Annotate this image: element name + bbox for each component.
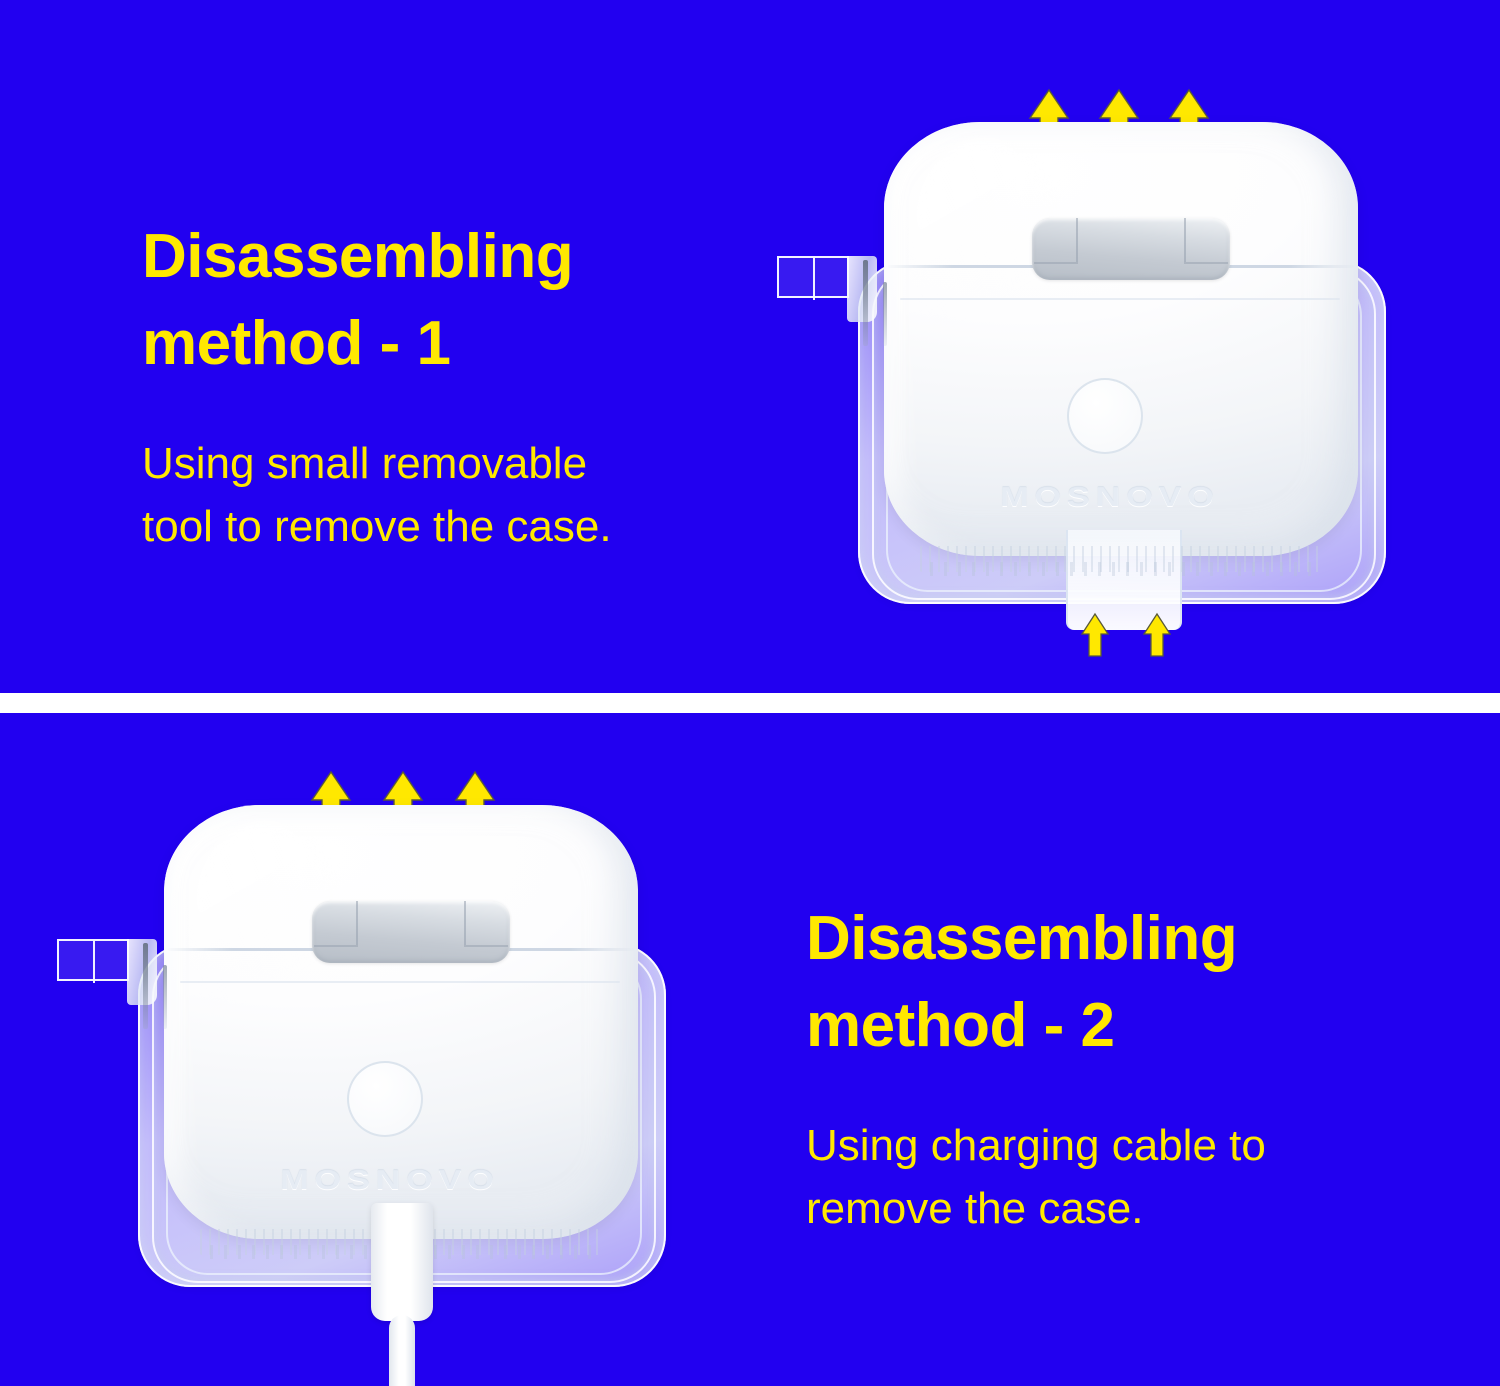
airpods-case-with-cover: MOSNOVO	[60, 743, 720, 1363]
case-lid-seam-secondary	[900, 298, 1340, 300]
panel-divider	[0, 693, 1500, 713]
panel-method-1: Disassembling method - 1 Using small rem…	[0, 0, 1500, 693]
hinge-notch-left	[356, 901, 358, 945]
case-hinge-bar	[1032, 218, 1230, 280]
airpods-case-with-cover: MOSNOVO	[780, 60, 1440, 620]
tool-stem-shadow-2	[163, 965, 167, 1029]
hinge-underline-left	[1034, 262, 1078, 264]
hinge-notch-left	[1076, 218, 1078, 262]
hinge-underline-left	[314, 945, 358, 947]
pairing-button-circle	[1067, 378, 1143, 454]
tool-stem	[127, 939, 157, 1005]
removable-tool-icon	[57, 939, 153, 985]
shell-bottom-fineprint-2	[930, 562, 1314, 576]
text-block-method-2: Disassembling method - 2 Using charging …	[806, 896, 1426, 1241]
hinge-notch-right	[464, 901, 466, 945]
subline-method-1: Using small removable tool to remove the…	[142, 432, 782, 560]
tool-plate	[57, 939, 129, 981]
headline-method-2: Disassembling method - 2	[806, 896, 1426, 1070]
headline-method-1: Disassembling method - 1	[142, 214, 782, 388]
hinge-underline-right	[464, 945, 508, 947]
panel-method-2: Disassembling method - 2 Using charging …	[0, 713, 1500, 1386]
tool-stem	[847, 256, 877, 322]
brand-emboss-label: MOSNOVO	[60, 1165, 720, 1197]
case-hinge-bar	[312, 901, 510, 963]
charging-cable-connector	[371, 1203, 433, 1321]
arrow-up-icon	[1080, 612, 1110, 658]
instruction-graphic: Disassembling method - 1 Using small rem…	[0, 0, 1500, 1386]
tool-plate-split	[813, 258, 815, 300]
text-block-method-1: Disassembling method - 1 Using small rem…	[142, 214, 782, 559]
tool-plate	[777, 256, 849, 298]
removable-tool-icon	[777, 256, 873, 302]
arrow-up-icon	[1142, 612, 1172, 658]
tool-stem-shadow	[863, 260, 868, 346]
hinge-notch-right	[1184, 218, 1186, 262]
charging-cable-wire	[389, 1315, 415, 1386]
tool-plate-split	[93, 941, 95, 983]
brand-emboss-label: MOSNOVO	[780, 482, 1440, 514]
case-lid-seam-secondary	[180, 981, 620, 983]
subline-method-2: Using charging cable to remove the case.	[806, 1114, 1426, 1242]
hinge-underline-right	[1184, 262, 1228, 264]
tool-stem-shadow	[143, 943, 148, 1029]
pairing-button-circle	[347, 1061, 423, 1137]
tool-stem-shadow-2	[883, 282, 887, 346]
